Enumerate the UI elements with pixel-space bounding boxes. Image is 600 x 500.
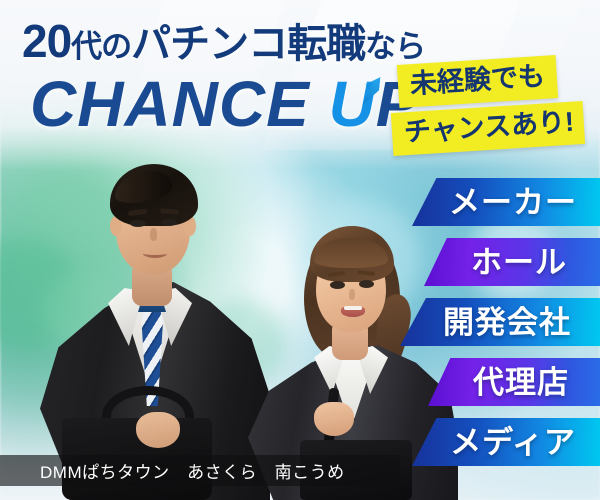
category-label: ホール bbox=[457, 247, 567, 278]
headline: 20代のパチンコ転職なら bbox=[22, 18, 425, 64]
category-button-agency[interactable]: 代理店 bbox=[428, 358, 600, 406]
logo-chance-up: CHANCE UP bbox=[30, 72, 419, 136]
category-label: 開発会社 bbox=[429, 307, 571, 338]
logo-letter-u: U bbox=[329, 72, 376, 136]
category-label: メーカー bbox=[435, 187, 577, 218]
logo-text-part1: CHANCE bbox=[30, 68, 329, 140]
category-button-media[interactable]: メディア bbox=[412, 418, 600, 466]
headline-particle: なら bbox=[365, 29, 425, 64]
category-button-hall[interactable]: ホール bbox=[424, 238, 600, 286]
caption-bar: DMMぱちタウン あさくら 南こうめ bbox=[0, 455, 400, 486]
caption-text: DMMぱちタウン あさくら 南こうめ bbox=[0, 458, 345, 483]
headline-keyword: パチンコ転職 bbox=[131, 22, 365, 66]
category-label: メディア bbox=[436, 427, 576, 458]
category-button-developer[interactable]: 開発会社 bbox=[400, 298, 600, 346]
category-button-maker[interactable]: メーカー bbox=[412, 178, 600, 226]
category-label: 代理店 bbox=[459, 367, 569, 398]
advertisement-banner: 20代のパチンコ転職なら CHANCE UP 未経験でも チャンスあり! メーカ… bbox=[0, 0, 600, 500]
logo-letter-u-text: U bbox=[329, 68, 376, 140]
headline-age-number: 20 bbox=[22, 15, 71, 67]
businessman-photo bbox=[40, 150, 270, 500]
headline-age-suffix: 代の bbox=[71, 29, 131, 64]
